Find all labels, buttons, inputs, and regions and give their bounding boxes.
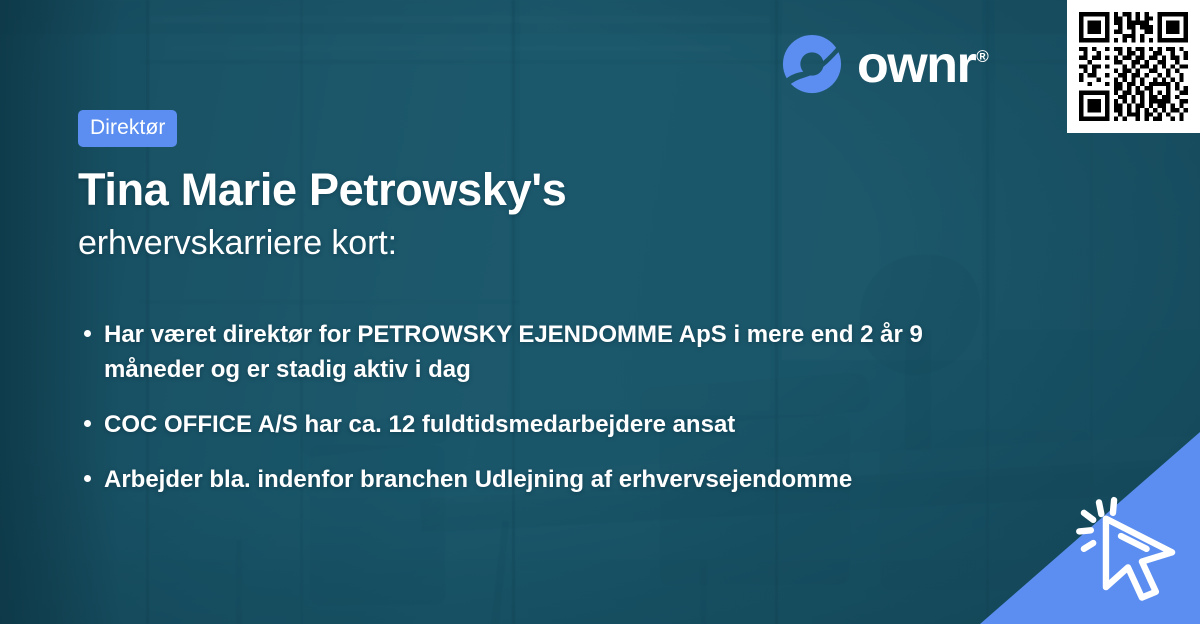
list-item: Arbejder bla. indenfor branchen Udlejnin… — [78, 462, 938, 497]
bullet-icon — [84, 420, 91, 427]
qr-code-panel[interactable] — [1067, 0, 1200, 133]
list-item-text: Arbejder bla. indenfor branchen Udlejnin… — [104, 466, 852, 493]
qr-code-icon — [1079, 12, 1188, 121]
career-facts-list: Har været direktør for PETROWSKY EJENDOM… — [78, 317, 978, 498]
card-content: Direktør Tina Marie Petrowsky's erhvervs… — [78, 110, 978, 498]
page-title: Tina Marie Petrowsky's — [78, 166, 978, 215]
role-badge: Direktør — [78, 110, 177, 147]
page-subtitle: erhvervskarriere kort: — [78, 224, 978, 262]
ownr-wordmark: ownr® — [857, 39, 986, 91]
list-item: COC OFFICE A/S har ca. 12 fuldtidsmedarb… — [78, 407, 938, 442]
ownr-wordmark-text: ownr — [857, 36, 975, 94]
list-item-text: COC OFFICE A/S har ca. 12 fuldtidsmedarb… — [104, 411, 735, 438]
business-card-graphic: ownr® Direktør Tina Marie Petrowsky's er… — [0, 0, 1200, 624]
list-item: Har været direktør for PETROWSKY EJENDOM… — [78, 317, 938, 388]
list-item-text: Har været direktør for PETROWSKY EJENDOM… — [104, 321, 923, 383]
bullet-icon — [84, 330, 91, 337]
ownr-logo[interactable]: ownr® — [781, 33, 986, 95]
ownr-circle-swoosh-icon — [781, 33, 843, 95]
registered-trademark-icon: ® — [976, 47, 987, 66]
bullet-icon — [84, 475, 91, 482]
